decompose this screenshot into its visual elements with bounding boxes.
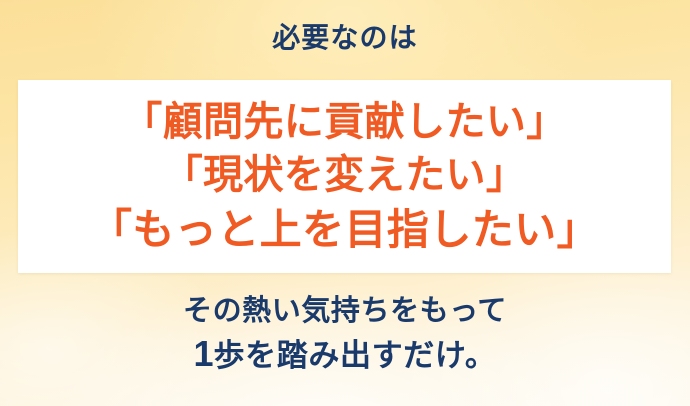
- closing-line-2-text: 歩を踏み出すだけ。: [214, 338, 497, 373]
- closing-block: その熱い気持ちをもって 1歩を踏み出すだけ。: [0, 291, 690, 377]
- quote-card: 「顧問先に貢献したい」 「現状を変えたい」 「もっと上を目指したい」: [18, 80, 671, 273]
- step-number: 1: [193, 333, 213, 374]
- banner-heading: 必要なのは: [0, 21, 690, 55]
- quote-line-2: 「現状を変えたい」: [163, 149, 527, 202]
- quote-line-3: 「もっと上を目指したい」: [90, 202, 599, 257]
- closing-line-1: その熱い気持ちをもって: [0, 291, 690, 332]
- closing-line-2: 1歩を踏み出すだけ。: [0, 332, 690, 377]
- quote-line-1: 「顧問先に貢献したい」: [122, 96, 566, 149]
- promo-banner: 必要なのは 「顧問先に貢献したい」 「現状を変えたい」 「もっと上を目指したい」…: [0, 0, 690, 406]
